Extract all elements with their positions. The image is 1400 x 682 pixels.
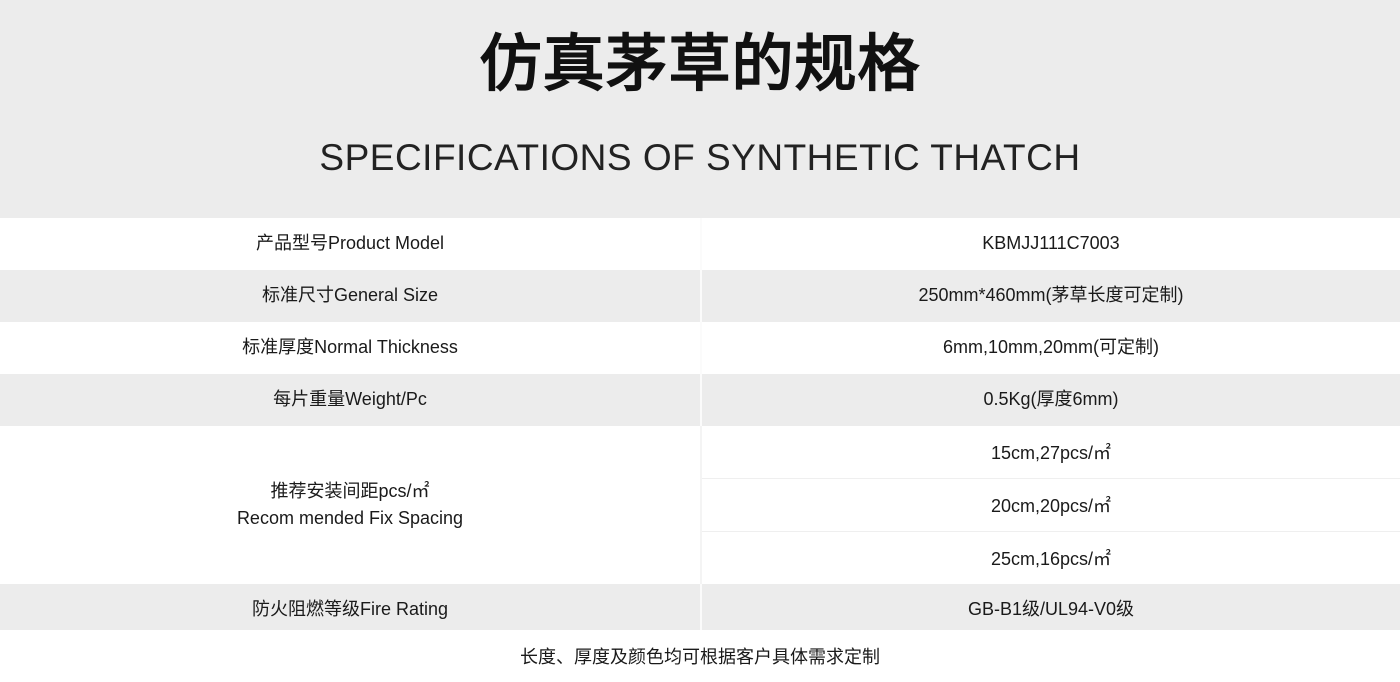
table-row: 防火阻燃等级Fire Rating GB-B1级/UL94-V0级 [0, 584, 1400, 636]
row-label-weight-per-pc: 每片重量Weight/Pc [0, 374, 700, 426]
table-row-fix-spacing: 推荐安装间距pcs/㎡ Recom mended Fix Spacing 15c… [0, 426, 1400, 584]
page-title-cn: 仿真茅草的规格 [0, 32, 1400, 99]
table-row: 每片重量Weight/Pc 0.5Kg(厚度6mm) [0, 374, 1400, 426]
specifications-table: 产品型号Product Model KBMJJ111C7003 标准尺寸Gene… [0, 218, 1400, 636]
row-label-fix-spacing-line1: 推荐安装间距pcs/㎡ [237, 478, 463, 505]
row-label-fire-rating: 防火阻燃等级Fire Rating [0, 584, 700, 636]
row-value-general-size: 250mm*460mm(茅草长度可定制) [700, 270, 1400, 322]
row-value-weight-per-pc: 0.5Kg(厚度6mm) [700, 374, 1400, 426]
table-row: 标准厚度Normal Thickness 6mm,10mm,20mm(可定制) [0, 322, 1400, 374]
row-label-fix-spacing-line2: Recom mended Fix Spacing [237, 505, 463, 532]
row-label-normal-thickness: 标准厚度Normal Thickness [0, 322, 700, 374]
table-row: 产品型号Product Model KBMJJ111C7003 [0, 218, 1400, 270]
spec-sheet-page: 仿真茅草的规格 SPECIFICATIONS OF SYNTHETIC THAT… [0, 0, 1400, 682]
row-value-product-model: KBMJJ111C7003 [700, 218, 1400, 270]
row-label-general-size: 标准尺寸General Size [0, 270, 700, 322]
list-item: 25cm,16pcs/㎡ [702, 531, 1400, 584]
list-item: 20cm,20pcs/㎡ [702, 478, 1400, 531]
row-label-fix-spacing: 推荐安装间距pcs/㎡ Recom mended Fix Spacing [0, 426, 700, 584]
table-row: 标准尺寸General Size 250mm*460mm(茅草长度可定制) [0, 270, 1400, 322]
row-value-fire-rating: GB-B1级/UL94-V0级 [700, 584, 1400, 636]
list-item: 15cm,27pcs/㎡ [702, 426, 1400, 478]
row-label-product-model: 产品型号Product Model [0, 218, 700, 270]
page-title-en: SPECIFICATIONS OF SYNTHETIC THATCH [0, 138, 1400, 179]
row-values-fix-spacing: 15cm,27pcs/㎡ 20cm,20pcs/㎡ 25cm,16pcs/㎡ [700, 426, 1400, 584]
row-value-normal-thickness: 6mm,10mm,20mm(可定制) [700, 322, 1400, 374]
footer-note: 长度、厚度及颜色均可根据客户具体需求定制 [0, 630, 1400, 682]
header-banner: 仿真茅草的规格 SPECIFICATIONS OF SYNTHETIC THAT… [0, 0, 1400, 218]
